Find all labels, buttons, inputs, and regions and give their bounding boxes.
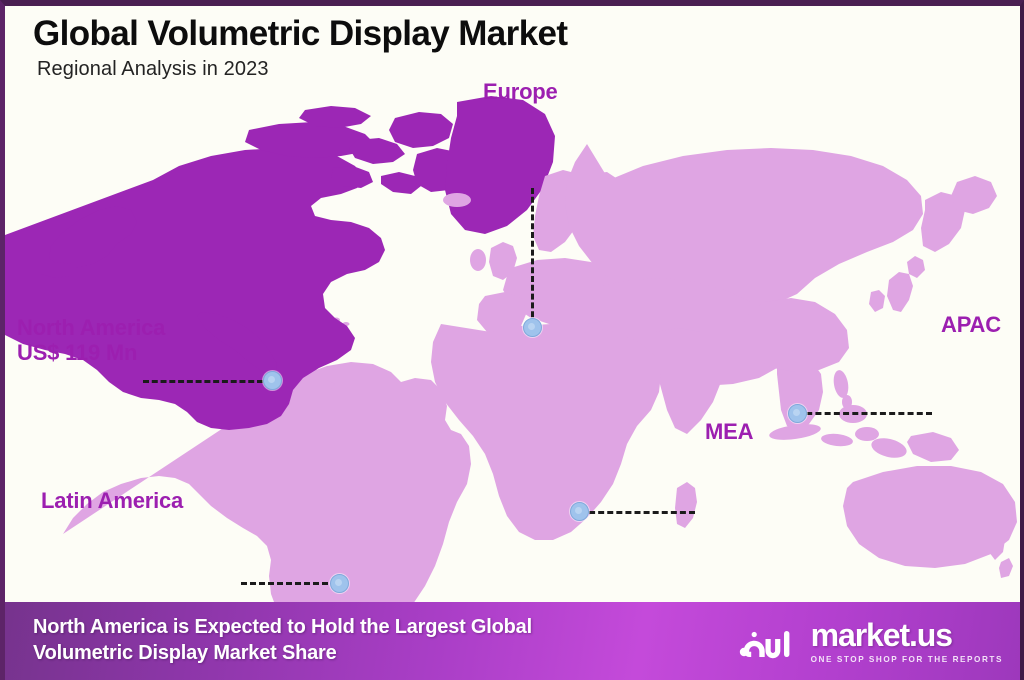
region-label-north-america-name: North America xyxy=(17,315,165,340)
region-label-latin-america: Latin America xyxy=(41,489,183,514)
logo-name: market.us xyxy=(811,619,952,651)
map-marker-europe[interactable] xyxy=(523,318,542,337)
market-us-logo-mark xyxy=(739,619,801,663)
region-label-latin-america-name: Latin America xyxy=(41,488,183,513)
region-label-mea-name: MEA xyxy=(705,419,753,444)
banner-headline: North America is Expected to Hold the La… xyxy=(33,615,532,666)
connector-europe xyxy=(531,188,534,326)
header: Global Volumetric Display Market Regiona… xyxy=(33,16,567,81)
banner-headline-line2: Volumetric Display Market Share xyxy=(33,641,532,667)
market-us-logo-text: market.us ONE STOP SHOP FOR THE REPORTS xyxy=(811,619,1003,664)
region-label-europe: Europe xyxy=(483,80,558,105)
connector-mea xyxy=(580,511,695,514)
bottom-banner: North America is Expected to Hold the La… xyxy=(5,602,1024,680)
region-label-mea: MEA xyxy=(705,420,753,445)
region-label-europe-name: Europe xyxy=(483,79,558,104)
map-marker-latin-america[interactable] xyxy=(330,574,349,593)
infographic-canvas: Global Volumetric Display Market Regiona… xyxy=(0,0,1024,680)
page-title: Global Volumetric Display Market xyxy=(33,16,567,52)
region-label-north-america: North America US$ 119 Mn xyxy=(17,316,165,365)
banner-headline-line1: North America is Expected to Hold the La… xyxy=(33,615,532,641)
page-subtitle: Regional Analysis in 2023 xyxy=(37,58,567,81)
connector-apac xyxy=(797,412,932,415)
connector-latin-america xyxy=(241,582,337,585)
connector-north-america xyxy=(143,380,263,383)
logo-tagline: ONE STOP SHOP FOR THE REPORTS xyxy=(811,655,1003,664)
region-label-apac-name: APAC xyxy=(941,312,1001,337)
market-us-logo[interactable]: market.us ONE STOP SHOP FOR THE REPORTS xyxy=(739,619,1007,664)
region-value-north-america: US$ 119 Mn xyxy=(17,341,165,366)
map-marker-north-america[interactable] xyxy=(263,371,282,390)
region-label-apac: APAC xyxy=(941,313,1001,338)
map-marker-apac[interactable] xyxy=(788,404,807,423)
map-marker-mea[interactable] xyxy=(570,502,589,521)
